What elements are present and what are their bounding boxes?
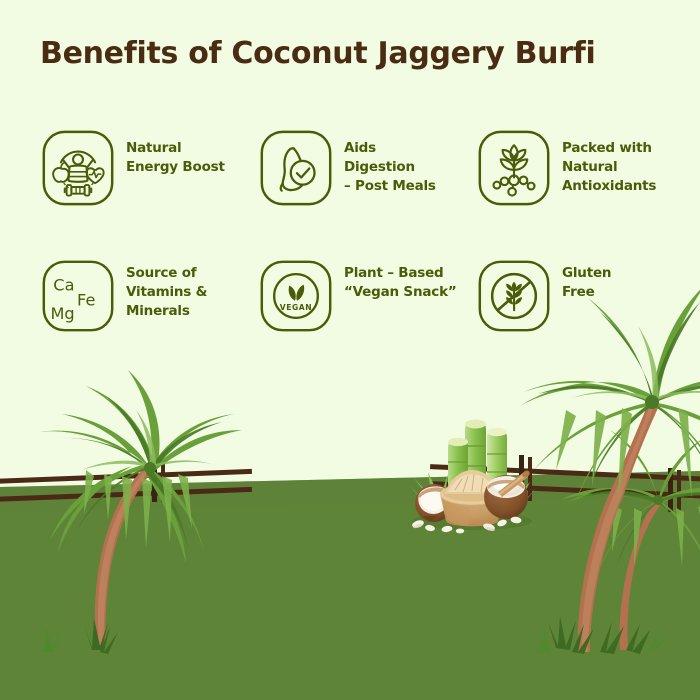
- benefit-label: Natural Energy Boost: [126, 128, 225, 177]
- benefit-item-natural-energy-boost: Natural Energy Boost: [40, 128, 258, 256]
- benefit-item-antioxidants: Packed with Natural Antioxidants: [476, 128, 680, 256]
- minerals-icon: Ca Fe Mg: [40, 256, 116, 336]
- benefit-item-gluten-free: Gluten Free: [476, 256, 680, 356]
- mineral-symbol-ca: Ca: [53, 275, 74, 294]
- infographic-poster: Benefits of Coconut Jaggery Burfi: [0, 0, 700, 700]
- vegan-badge-icon: VEGAN: [258, 256, 334, 336]
- benefit-label: Gluten Free: [562, 256, 611, 302]
- benefit-item-plant-based: VEGAN Plant – Based “Vegan Snack”: [258, 256, 476, 356]
- benefits-grid: Natural Energy Boost Aids Digestion – Po…: [40, 128, 680, 356]
- benefit-label: Plant – Based “Vegan Snack”: [344, 256, 457, 302]
- mineral-symbol-mg: Mg: [50, 304, 74, 323]
- gluten-free-icon: [476, 256, 552, 336]
- digestion-stomach-icon: [258, 128, 334, 208]
- benefit-label: Source of Vitamins & Minerals: [126, 256, 207, 321]
- benefit-label: Aids Digestion – Post Meals: [344, 128, 436, 196]
- antioxidants-plant-icon: [476, 128, 552, 208]
- energy-boost-icon: [40, 128, 116, 208]
- vegan-badge-text: VEGAN: [280, 303, 312, 312]
- benefit-label: Packed with Natural Antioxidants: [562, 128, 656, 196]
- benefit-item-aids-digestion: Aids Digestion – Post Meals: [258, 128, 476, 256]
- mineral-symbol-fe: Fe: [77, 291, 95, 310]
- page-title: Benefits of Coconut Jaggery Burfi: [40, 36, 595, 71]
- benefit-item-vitamins-minerals: Ca Fe Mg Source of Vitamins & Minerals: [40, 256, 258, 356]
